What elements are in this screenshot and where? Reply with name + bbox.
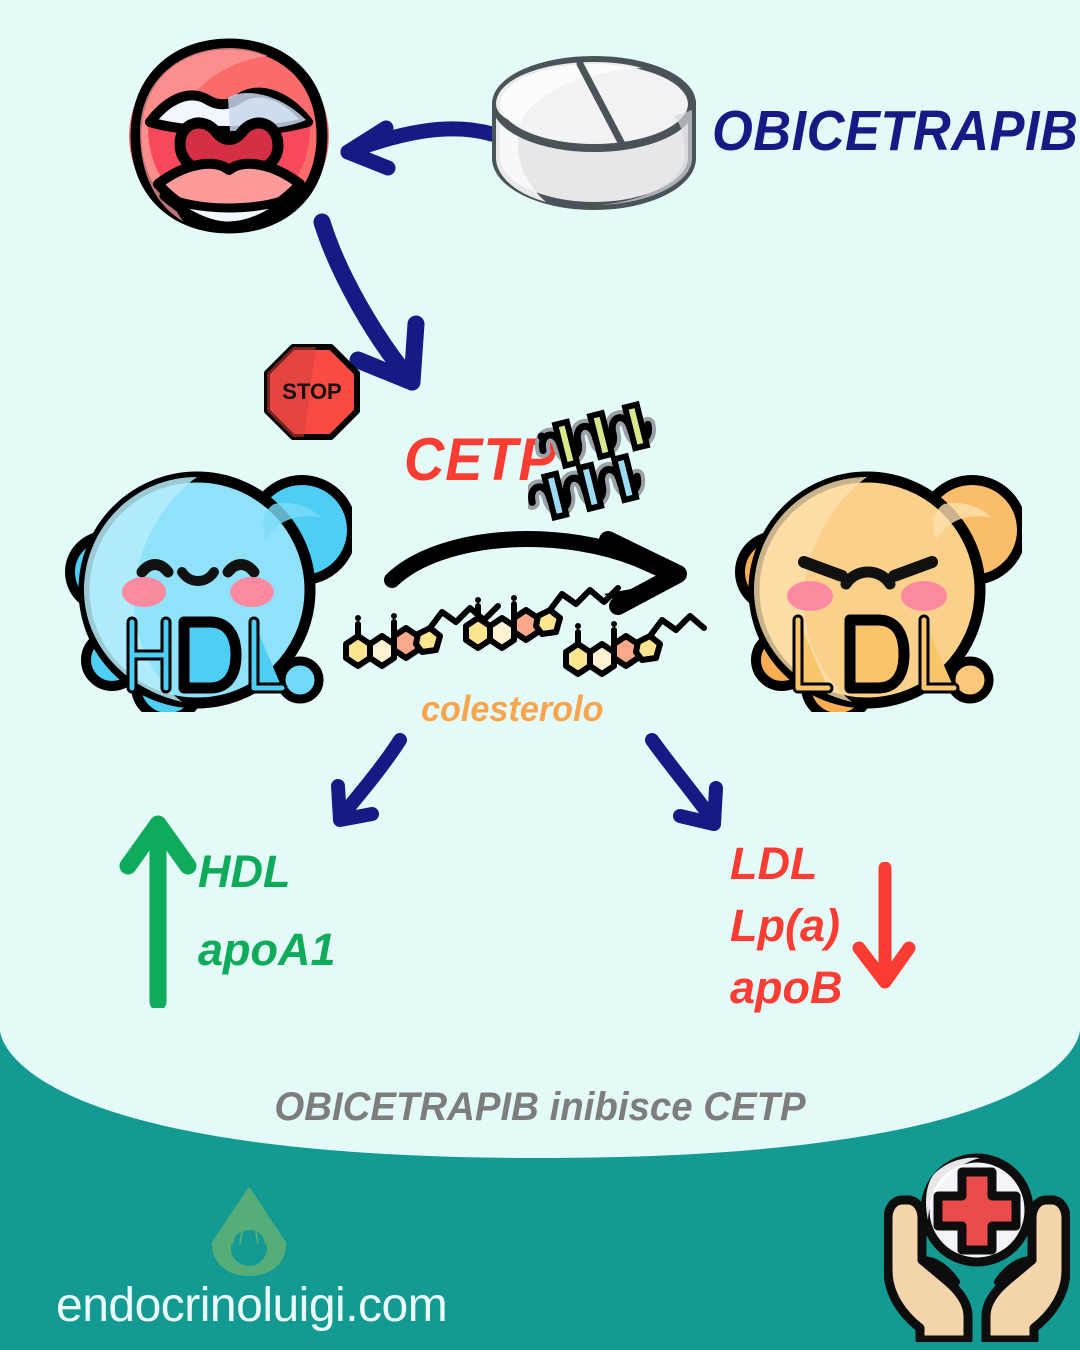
infographic-canvas: OBICETRAPIB STOP CETP (0, 0, 1080, 1350)
hdl-particle (62, 462, 352, 712)
arrow-to-ldl-outcome (618, 730, 748, 840)
decrease-arrow-icon (845, 862, 925, 992)
website-url: endocrinoluigi.com (56, 1278, 447, 1333)
mouth-icon (118, 36, 340, 236)
arrow-pill-to-mouth (320, 108, 500, 188)
decrease-item-ldl: LDL (730, 833, 843, 895)
cholesterol-label: colesterolo (421, 688, 603, 730)
footer-caption: OBICETRAPIB inibisce CETP (22, 1085, 1059, 1130)
stop-sign-label: STOP (264, 344, 360, 440)
pill-icon (488, 54, 700, 214)
increase-arrow-icon (118, 808, 198, 1008)
droplet-logo-icon (194, 1182, 304, 1278)
cholesterol-molecules (334, 578, 714, 688)
increase-outcomes: HDL apoA1 (198, 833, 336, 989)
increase-item-apoa1: apoA1 (198, 911, 336, 989)
decrease-item-apob: apoB (730, 957, 843, 1019)
decrease-outcomes: LDL Lp(a) apoB (730, 833, 843, 1019)
decrease-item-lpa: Lp(a) (730, 895, 843, 957)
stop-sign-icon: STOP (264, 344, 360, 440)
protein-helix-icon (528, 392, 708, 522)
increase-item-hdl: HDL (198, 833, 336, 911)
page-title: OBICETRAPIB (712, 98, 1078, 164)
arrow-to-hdl-outcome (310, 730, 440, 840)
ldl-particle (732, 462, 1022, 712)
hands-holding-medical-cross-icon (884, 1152, 1070, 1342)
